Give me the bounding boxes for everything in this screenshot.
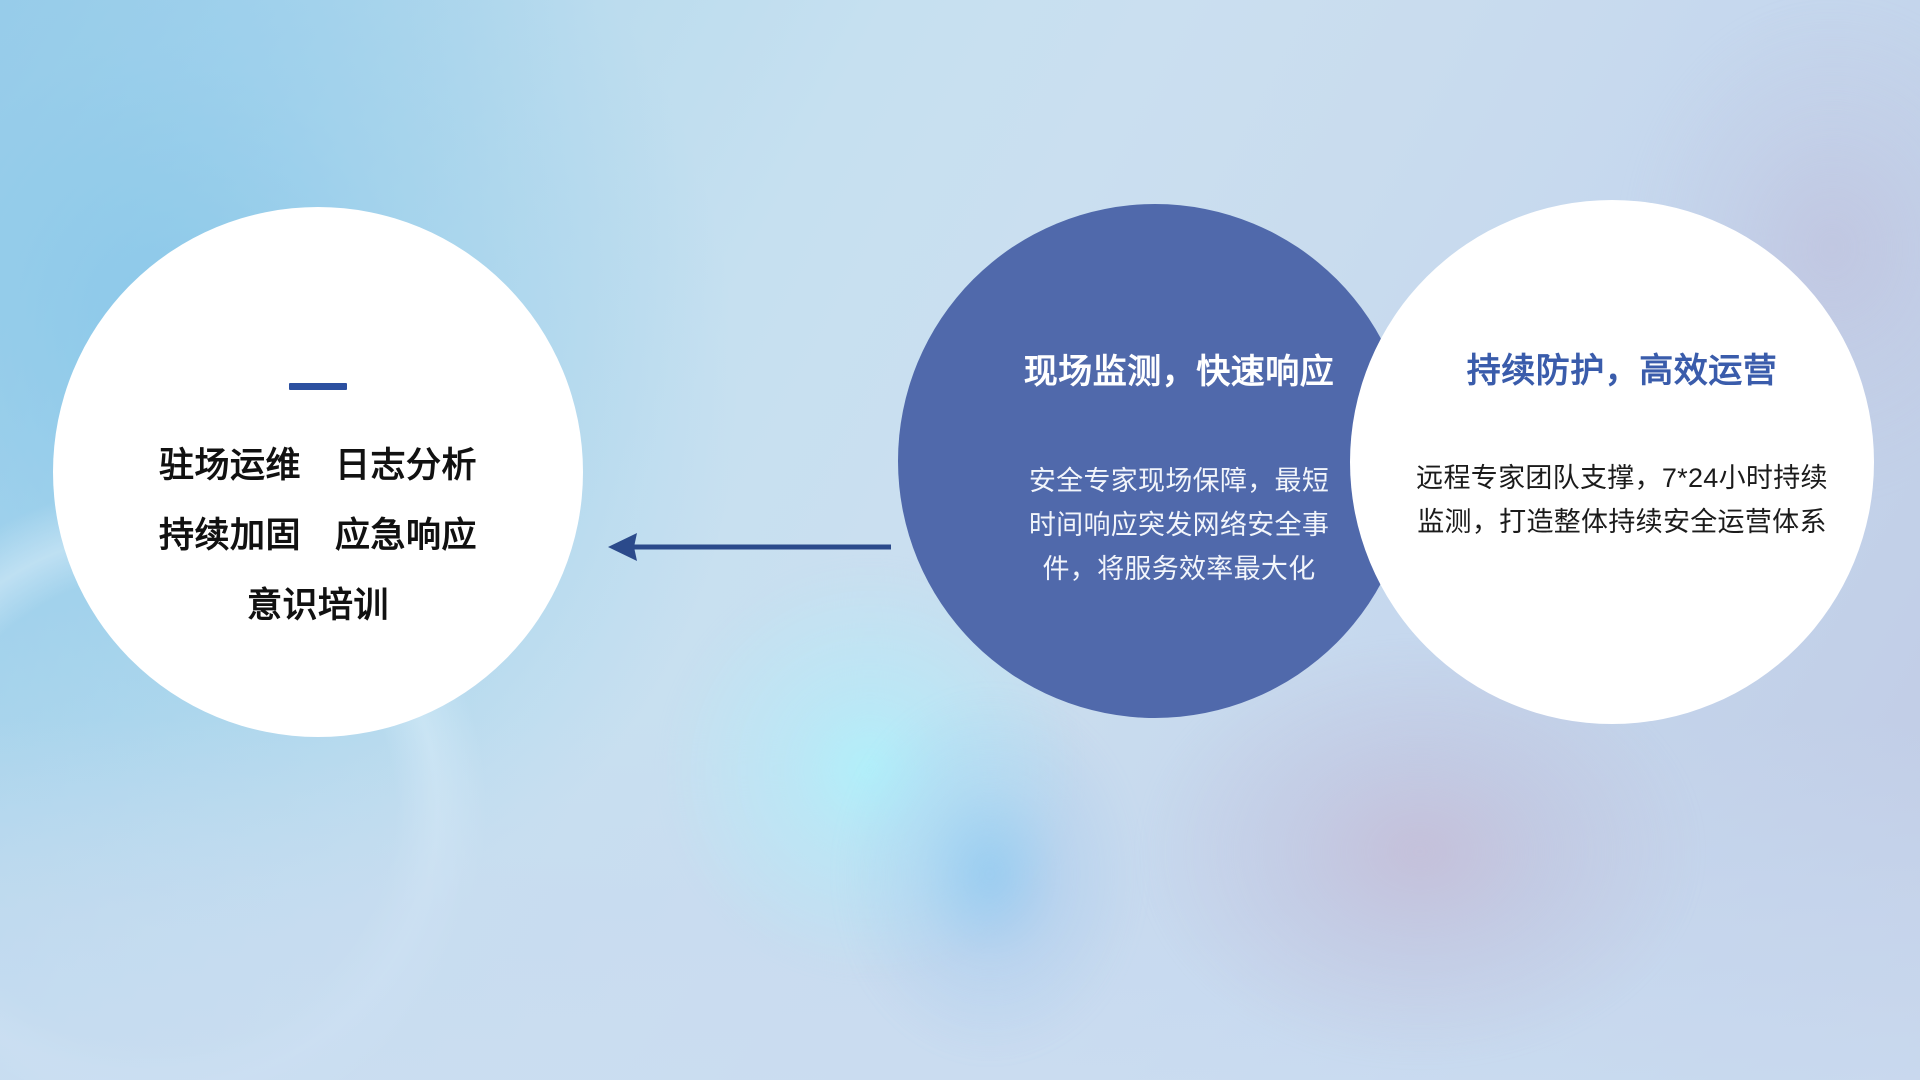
slide-canvas: 驻场运维 日志分析 持续加固 应急响应 意识培训 现场监测，快速响应 安全专家现… xyxy=(0,0,1920,1080)
tag-row: 持续加固 应急响应 xyxy=(159,518,477,553)
tag-row: 意识培训 xyxy=(247,588,389,623)
tag-row: 驻场运维 日志分析 xyxy=(159,448,477,483)
glow-cyan-bloom-2 xyxy=(840,690,1140,1080)
tag-label: 驻场运维 xyxy=(159,448,301,483)
middle-circle-body: 安全专家现场保障，最短时间响应突发网络安全事件，将服务效率最大化 xyxy=(1022,459,1337,591)
right-circle-title: 持续防护，高效运营 xyxy=(1467,343,1778,392)
tag-label: 应急响应 xyxy=(335,518,477,553)
right-circle-content: 持续防护，高效运营 远程专家团队支撑，7*24小时持续监测，打造整体持续安全运营… xyxy=(1350,200,1874,724)
left-circle-content: 驻场运维 日志分析 持续加固 应急响应 意识培训 xyxy=(53,207,583,737)
middle-circle-title: 现场监测，快速响应 xyxy=(1024,344,1335,393)
right-circle-body: 远程专家团队支撑，7*24小时持续监测，打造整体持续安全运营体系 xyxy=(1404,456,1840,544)
tag-label: 意识培训 xyxy=(247,588,389,623)
tag-label: 持续加固 xyxy=(159,518,301,553)
tag-label: 日志分析 xyxy=(335,448,477,483)
accent-dash-icon xyxy=(289,383,347,390)
middle-circle-content: 现场监测，快速响应 安全专家现场保障，最短时间响应突发网络安全事件，将服务效率最… xyxy=(898,204,1412,718)
connector-arrow-left xyxy=(595,518,895,578)
